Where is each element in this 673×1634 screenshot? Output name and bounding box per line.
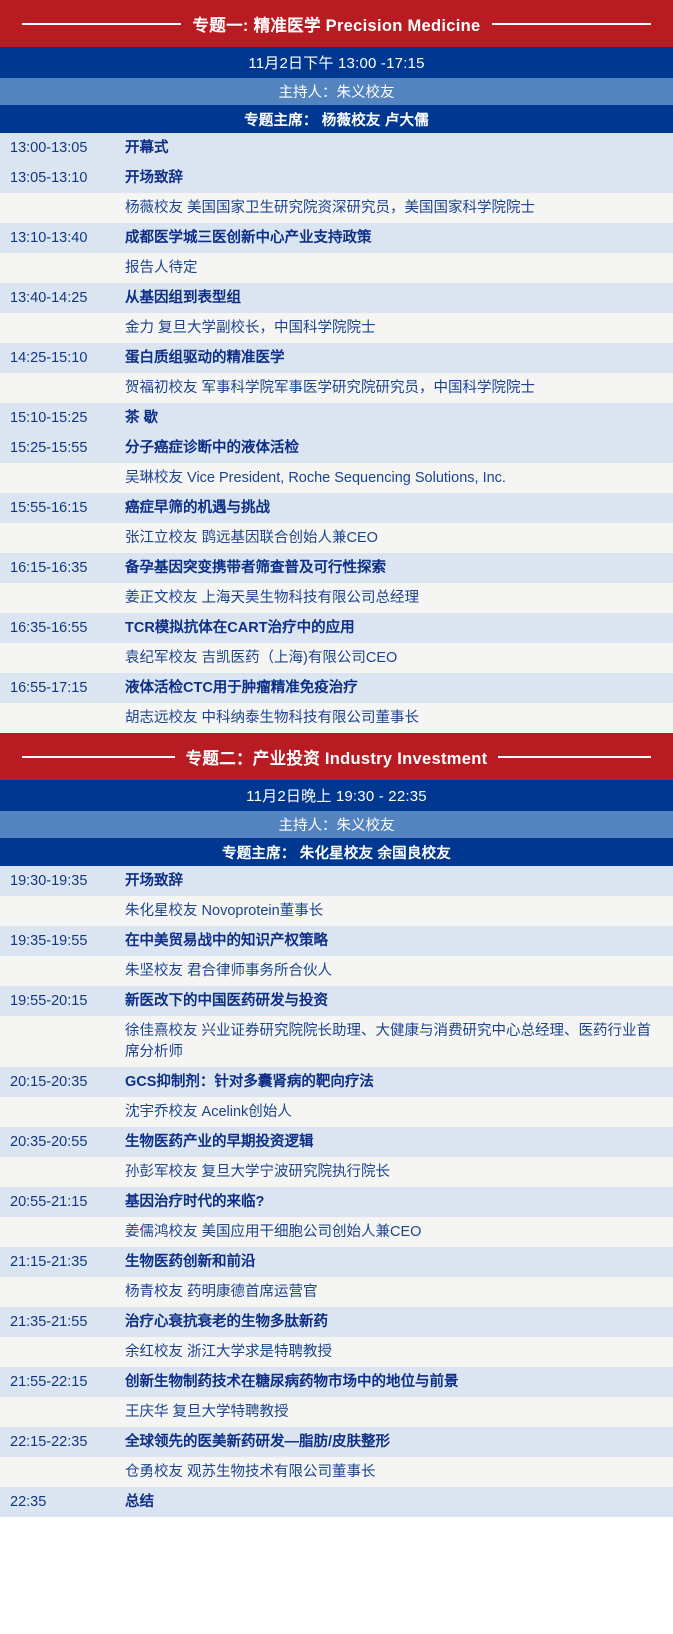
agenda-row-time: 13:05-13:10 [10, 168, 125, 189]
agenda-title-row: 15:55-16:15癌症早筛的机遇与挑战 [0, 493, 673, 523]
agenda-title-row: 16:55-17:15液体活检CTC用于肿瘤精准免疫治疗 [0, 673, 673, 703]
agenda-row-title: 蛋白质组驱动的精准医学 [125, 348, 665, 369]
agenda-speaker-row: 贺福初校友 军事科学院军事医学研究院研究员，中国科学院院士 [0, 373, 673, 403]
banner-rule-left-icon [22, 756, 175, 758]
agenda-row-time: 13:10-13:40 [10, 228, 125, 249]
section-chair-band: 专题主席： 朱化星校友 余国良校友 [0, 838, 673, 866]
agenda-speaker-row: 杨青校友 药明康德首席运营官 [0, 1277, 673, 1307]
section-banner: 专题一: 精准医学 Precision Medicine [0, 0, 673, 47]
agenda-row-speaker: 王庆华 复旦大学特聘教授 [125, 1402, 665, 1423]
agenda-row-speaker: 姜正文校友 上海天昊生物科技有限公司总经理 [125, 588, 665, 609]
agenda-title-row: 16:35-16:55TCR模拟抗体在CART治疗中的应用 [0, 613, 673, 643]
agenda-row-title: 总结 [125, 1492, 665, 1513]
section-host-text: 主持人：朱义校友 [279, 81, 395, 102]
agenda-speaker-row: 报告人待定 [0, 253, 673, 283]
agenda-row-time: 15:10-15:25 [10, 408, 125, 429]
agenda-row-speaker: 报告人待定 [125, 258, 665, 279]
agenda-row-time: 20:15-20:35 [10, 1072, 125, 1093]
agenda-title-row: 19:55-20:15新医改下的中国医药研发与投资 [0, 986, 673, 1016]
agenda-row-speaker: 胡志远校友 中科纳泰生物科技有限公司董事长 [125, 708, 665, 729]
agenda-title-row: 13:00-13:05开幕式 [0, 133, 673, 163]
agenda-speaker-row: 杨薇校友 美国国家卫生研究院资深研究员，美国国家科学院院士 [0, 193, 673, 223]
section-banner-title: 专题一: 精准医学 Precision Medicine [192, 12, 480, 36]
agenda-row-time: 16:35-16:55 [10, 618, 125, 639]
agenda-row-speaker: 姜儒鸿校友 美国应用干细胞公司创始人兼CEO [125, 1222, 665, 1243]
agenda-row-time: 13:00-13:05 [10, 138, 125, 159]
agenda-row-title: 液体活检CTC用于肿瘤精准免疫治疗 [125, 678, 665, 699]
section-date-text: 11月2日下午 13:00 -17:15 [248, 52, 424, 73]
agenda-title-row: 21:35-21:55治疗心衰抗衰老的生物多肽新药 [0, 1307, 673, 1337]
agenda-speaker-row: 张江立校友 鹍远基因联合创始人兼CEO [0, 523, 673, 553]
section-date-text: 11月2日晚上 19:30 - 22:35 [246, 785, 427, 806]
agenda-title-row: 20:15-20:35GCS抑制剂：针对多囊肾病的靶向疗法 [0, 1067, 673, 1097]
agenda-row-time: 21:55-22:15 [10, 1372, 125, 1393]
agenda-row-speaker: 贺福初校友 军事科学院军事医学研究院研究员，中国科学院院士 [125, 378, 665, 399]
banner-rule-right-icon [492, 23, 651, 25]
section-date-band: 11月2日下午 13:00 -17:15 [0, 47, 673, 78]
agenda-row-speaker: 杨薇校友 美国国家卫生研究院资深研究员，美国国家科学院院士 [125, 198, 665, 219]
agenda-row-title: 生物医药创新和前沿 [125, 1252, 665, 1273]
agenda-row-speaker: 袁纪军校友 吉凯医药（上海)有限公司CEO [125, 648, 665, 669]
agenda-row-speaker: 沈宇乔校友 Acelink创始人 [125, 1102, 665, 1123]
section-banner: 专题二：产业投资 Industry Investment [0, 733, 673, 780]
agenda-row-speaker: 徐佳熹校友 兴业证券研究院院长助理、大健康与消费研究中心总经理、医药行业首席分析… [125, 1021, 665, 1063]
agenda-row-time: 20:35-20:55 [10, 1132, 125, 1153]
agenda-title-row: 21:55-22:15创新生物制药技术在糖尿病药物市场中的地位与前景 [0, 1367, 673, 1397]
agenda-title-row: 13:05-13:10开场致辞 [0, 163, 673, 193]
agenda-row-time: 21:15-21:35 [10, 1252, 125, 1273]
section-chair-text: 专题主席： 杨薇校友 卢大儒 [244, 109, 429, 130]
agenda-row-speaker: 杨青校友 药明康德首席运营官 [125, 1282, 665, 1303]
agenda-row-title: TCR模拟抗体在CART治疗中的应用 [125, 618, 665, 639]
agenda-row-title: 成都医学城三医创新中心产业支持政策 [125, 228, 665, 249]
agenda-row-speaker: 朱化星校友 Novoprotein董事长 [125, 901, 665, 922]
section-chair-band: 专题主席： 杨薇校友 卢大儒 [0, 105, 673, 133]
agenda-speaker-row: 孙彭军校友 复旦大学宁波研究院执行院长 [0, 1157, 673, 1187]
agenda-row-speaker: 朱坚校友 君合律师事务所合伙人 [125, 961, 665, 982]
banner-rule-left-icon [22, 23, 181, 25]
agenda-title-row: 14:25-15:10蛋白质组驱动的精准医学 [0, 343, 673, 373]
section-host-band: 主持人：朱义校友 [0, 78, 673, 105]
agenda-row-title: 癌症早筛的机遇与挑战 [125, 498, 665, 519]
agenda-title-row: 20:55-21:15基因治疗时代的来临? [0, 1187, 673, 1217]
agenda-title-row: 15:10-15:25茶 歇 [0, 403, 673, 433]
agenda-speaker-row: 王庆华 复旦大学特聘教授 [0, 1397, 673, 1427]
agenda-speaker-row: 仓勇校友 观苏生物技术有限公司董事长 [0, 1457, 673, 1487]
agenda-row-speaker: 余红校友 浙江大学求是特聘教授 [125, 1342, 665, 1363]
agenda-title-row: 22:35总结 [0, 1487, 673, 1517]
agenda-row-title: GCS抑制剂：针对多囊肾病的靶向疗法 [125, 1072, 665, 1093]
agenda-title-row: 19:35-19:55在中美贸易战中的知识产权策略 [0, 926, 673, 956]
agenda-speaker-row: 姜正文校友 上海天昊生物科技有限公司总经理 [0, 583, 673, 613]
agenda-row-time: 19:55-20:15 [10, 991, 125, 1012]
agenda-row-time: 22:35 [10, 1492, 125, 1513]
banner-rule-right-icon [498, 756, 651, 758]
agenda-row-speaker: 仓勇校友 观苏生物技术有限公司董事长 [125, 1462, 665, 1483]
agenda-row-speaker: 吴琳校友 Vice President, Roche Sequencing So… [125, 468, 665, 489]
agenda-title-row: 21:15-21:35生物医药创新和前沿 [0, 1247, 673, 1277]
section-host-band: 主持人：朱义校友 [0, 811, 673, 838]
agenda-row-speaker: 张江立校友 鹍远基因联合创始人兼CEO [125, 528, 665, 549]
agenda-row-time: 22:15-22:35 [10, 1432, 125, 1453]
agenda-row-title: 基因治疗时代的来临? [125, 1192, 665, 1213]
agenda-title-row: 16:15-16:35备孕基因突变携带者筛查普及可行性探索 [0, 553, 673, 583]
agenda-speaker-row: 吴琳校友 Vice President, Roche Sequencing So… [0, 463, 673, 493]
agenda-row-title: 开场致辞 [125, 168, 665, 189]
agenda-row-speaker: 孙彭军校友 复旦大学宁波研究院执行院长 [125, 1162, 665, 1183]
agenda-speaker-row: 沈宇乔校友 Acelink创始人 [0, 1097, 673, 1127]
agenda-row-title: 备孕基因突变携带者筛查普及可行性探索 [125, 558, 665, 579]
agenda-speaker-row: 余红校友 浙江大学求是特聘教授 [0, 1337, 673, 1367]
agenda-row-time: 15:25-15:55 [10, 438, 125, 459]
agenda-title-row: 20:35-20:55生物医药产业的早期投资逻辑 [0, 1127, 673, 1157]
section-date-band: 11月2日晚上 19:30 - 22:35 [0, 780, 673, 811]
agenda-speaker-row: 姜儒鸿校友 美国应用干细胞公司创始人兼CEO [0, 1217, 673, 1247]
agenda-speaker-row: 徐佳熹校友 兴业证券研究院院长助理、大健康与消费研究中心总经理、医药行业首席分析… [0, 1016, 673, 1067]
agenda-row-time: 19:35-19:55 [10, 931, 125, 952]
agenda-row-title: 全球领先的医美新药研发—脂肪/皮肤整形 [125, 1432, 665, 1453]
agenda-row-title: 从基因组到表型组 [125, 288, 665, 309]
agenda-row-title: 开场致辞 [125, 871, 665, 892]
agenda-row-title: 分子癌症诊断中的液体活检 [125, 438, 665, 459]
agenda-title-row: 13:10-13:40成都医学城三医创新中心产业支持政策 [0, 223, 673, 253]
agenda-row-time: 16:55-17:15 [10, 678, 125, 699]
agenda-row-title: 新医改下的中国医药研发与投资 [125, 991, 665, 1012]
section-host-text: 主持人：朱义校友 [279, 814, 395, 835]
agenda-row-time: 19:30-19:35 [10, 871, 125, 892]
agenda-row-time: 15:55-16:15 [10, 498, 125, 519]
agenda-row-time: 14:25-15:10 [10, 348, 125, 369]
agenda-speaker-row: 袁纪军校友 吉凯医药（上海)有限公司CEO [0, 643, 673, 673]
agenda-row-title: 治疗心衰抗衰老的生物多肽新药 [125, 1312, 665, 1333]
agenda-speaker-row: 朱化星校友 Novoprotein董事长 [0, 896, 673, 926]
agenda-row-title: 生物医药产业的早期投资逻辑 [125, 1132, 665, 1153]
agenda-row-time: 20:55-21:15 [10, 1192, 125, 1213]
agenda-title-row: 19:30-19:35开场致辞 [0, 866, 673, 896]
agenda-title-row: 22:15-22:35全球领先的医美新药研发—脂肪/皮肤整形 [0, 1427, 673, 1457]
agenda-speaker-row: 朱坚校友 君合律师事务所合伙人 [0, 956, 673, 986]
agenda-speaker-row: 胡志远校友 中科纳泰生物科技有限公司董事长 [0, 703, 673, 733]
agenda-row-title: 在中美贸易战中的知识产权策略 [125, 931, 665, 952]
agenda-title-row: 15:25-15:55分子癌症诊断中的液体活检 [0, 433, 673, 463]
agenda-container: 专题一: 精准医学 Precision Medicine11月2日下午 13:0… [0, 0, 673, 1517]
agenda-row-speaker: 金力 复旦大学副校长，中国科学院院士 [125, 318, 665, 339]
agenda-row-time: 13:40-14:25 [10, 288, 125, 309]
agenda-row-title: 创新生物制药技术在糖尿病药物市场中的地位与前景 [125, 1372, 665, 1393]
agenda-row-time: 16:15-16:35 [10, 558, 125, 579]
agenda-row-time: 21:35-21:55 [10, 1312, 125, 1333]
section-chair-text: 专题主席： 朱化星校友 余国良校友 [222, 842, 451, 863]
section-banner-title: 专题二：产业投资 Industry Investment [186, 745, 488, 769]
agenda-speaker-row: 金力 复旦大学副校长，中国科学院院士 [0, 313, 673, 343]
agenda-row-title: 开幕式 [125, 138, 665, 159]
agenda-title-row: 13:40-14:25从基因组到表型组 [0, 283, 673, 313]
agenda-row-title: 茶 歇 [125, 408, 665, 429]
